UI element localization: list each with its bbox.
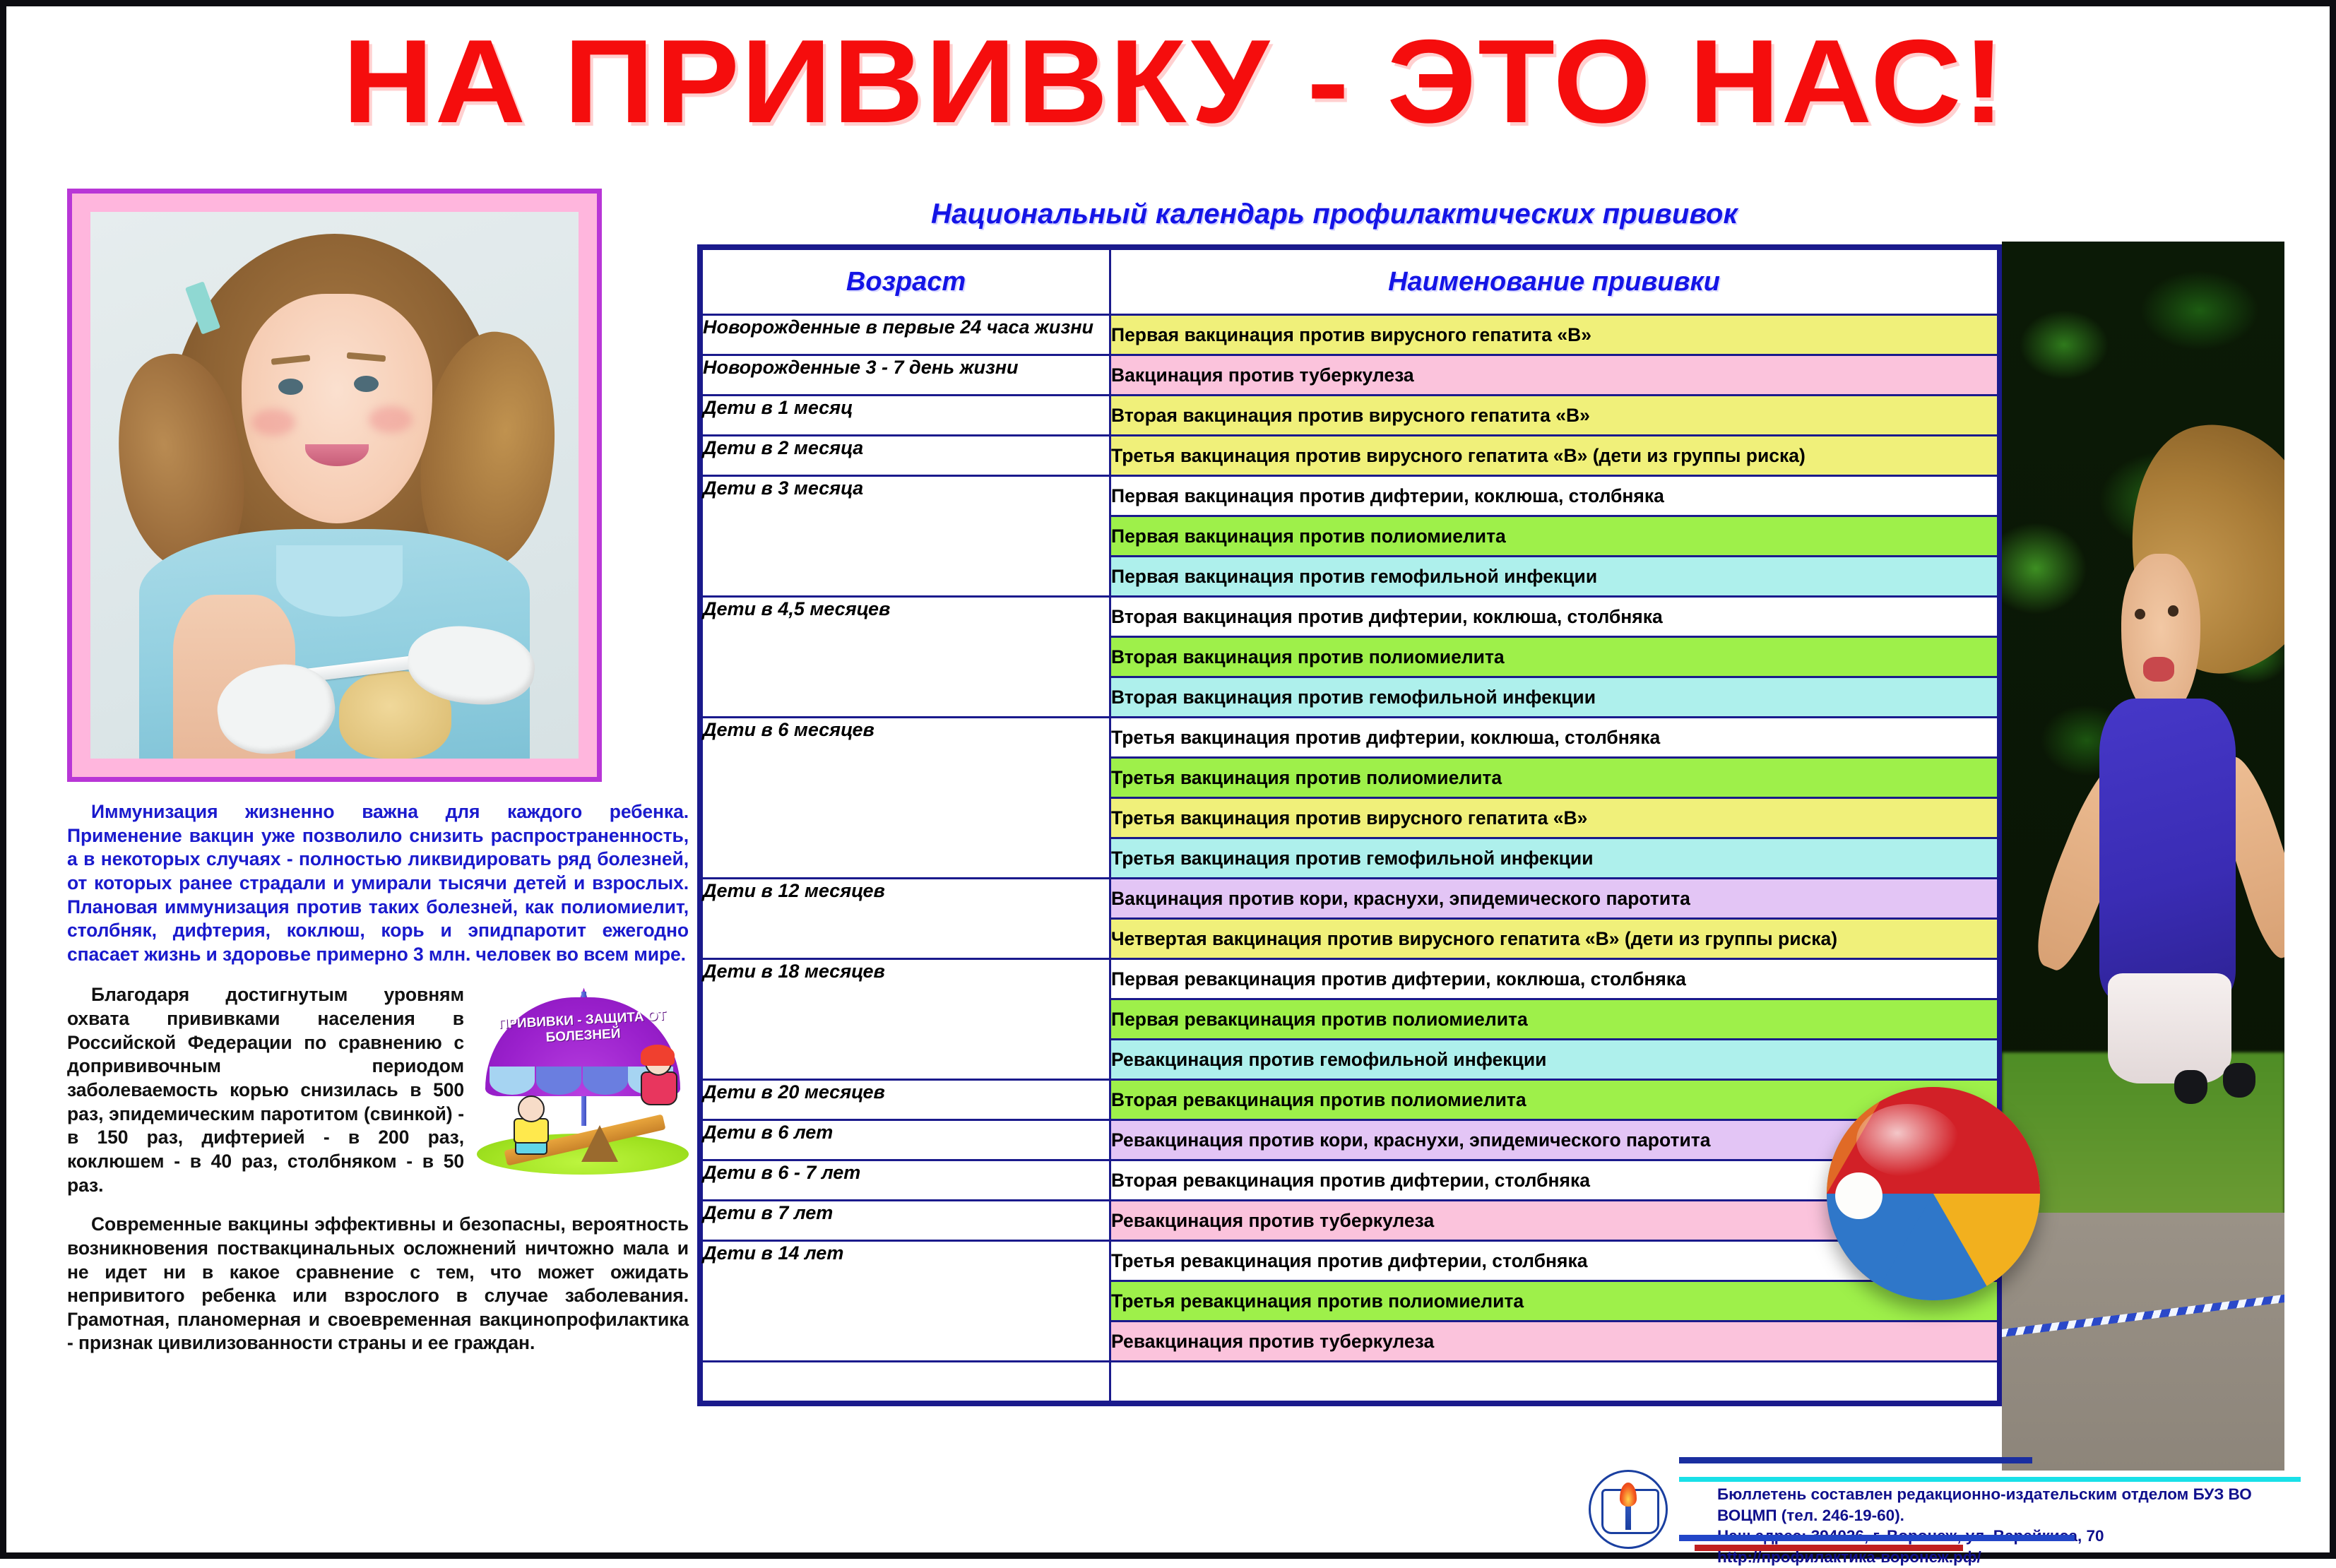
vaccine-cell: Первая ревакцинация против дифтерии, кок… <box>1110 959 1998 999</box>
age-cell: Дети в 1 месяц <box>702 396 1110 436</box>
age-cell <box>702 1362 1110 1402</box>
divider-red <box>1695 1545 1963 1551</box>
vaccine-cell: Первая вакцинация против дифтерии, коклю… <box>1110 476 1998 516</box>
calendar-subtitle: Национальный календарь профилактических … <box>699 198 1970 230</box>
vaccine-cell: Третья вакцинация против полиомиелита <box>1110 758 1998 798</box>
eye-left-icon <box>278 379 303 395</box>
shoe-right-icon <box>2223 1063 2256 1098</box>
age-cell: Новорожденные 3 - 7 день жизни <box>702 355 1110 396</box>
age-cell: Дети в 20 месяцев <box>702 1080 1110 1120</box>
mouth-icon <box>2143 657 2174 682</box>
table-row: Дети в 18 месяцевПервая ревакцинация про… <box>702 959 1998 999</box>
age-cell: Новорожденные в первые 24 часа жизни <box>702 315 1110 355</box>
jumping-girl-photo <box>2002 242 2284 1471</box>
beach-ball-icon <box>1827 1087 2040 1300</box>
age-cell: Дети в 12 месяцев <box>702 879 1110 959</box>
age-cell: Дети в 7 лет <box>702 1201 1110 1241</box>
white-shorts <box>2108 973 2231 1083</box>
eye-right-icon <box>2168 605 2179 617</box>
vaccine-cell: Ревакцинация против гемофильной инфекции <box>1110 1040 1998 1080</box>
table-row: Дети в 1 месяцВторая вакцинация против в… <box>702 396 1998 436</box>
cheek-right-icon <box>369 406 413 434</box>
table-row: Дети в 20 месяцевВторая ревакцинация про… <box>702 1080 1998 1120</box>
table-row: Дети в 14 летТретья ревакцинация против … <box>702 1241 1998 1281</box>
left-column: Иммунизация жизненно важна для каждого р… <box>67 189 689 1355</box>
divider-cyan <box>1679 1477 2301 1482</box>
shoe-left-icon <box>2174 1070 2207 1105</box>
vaccine-cell: Вторая вакцинация против гемофильной инф… <box>1110 677 1998 718</box>
vaccine-cell: Третья вакцинация против вирусного гепат… <box>1110 798 1998 838</box>
vaccination-photo-frame <box>67 189 602 782</box>
vaccine-cell: Вторая вакцинация против дифтерии, коклю… <box>1110 597 1998 637</box>
seesaw-pivot-icon <box>581 1125 618 1162</box>
vaccine-cell: Четвертая вакцинация против вирусного ге… <box>1110 919 1998 959</box>
table-row: Дети в 6 - 7 летВторая ревакцинация прот… <box>702 1160 1998 1201</box>
torch-and-book-logo-icon <box>1589 1470 1668 1549</box>
vaccine-cell: Вакцинация против кори, краснухи, эпидем… <box>1110 879 1998 919</box>
table-row: Дети в 7 летРевакцинация против туберкул… <box>702 1201 1998 1241</box>
divider-blue <box>1679 1535 2075 1541</box>
footer-line-publisher: Бюллетень составлен редакционно-издатель… <box>1717 1484 2304 1526</box>
vaccine-cell: Третья вакцинация против дифтерии, коклю… <box>1110 718 1998 758</box>
page-title: НА ПРИВИВКУ - ЭТО НАС! <box>0 22 2336 141</box>
table-row: Дети в 2 месяцаТретья вакцинация против … <box>702 436 1998 476</box>
table-header-row: Возраст Наименование прививки <box>702 249 1998 315</box>
footer: Бюллетень составлен редакционно-издатель… <box>1589 1467 2302 1553</box>
vaccine-cell: Вторая вакцинация против вирусного гепат… <box>1110 396 1998 436</box>
girl-on-seesaw-icon <box>636 1049 679 1114</box>
footer-contact-text: Бюллетень составлен редакционно-издатель… <box>1717 1484 2304 1568</box>
collar-icon <box>276 545 403 617</box>
table-row: Новорожденные в первые 24 часа жизниПерв… <box>702 315 1998 355</box>
age-cell: Дети в 2 месяца <box>702 436 1110 476</box>
vaccine-cell: Третья вакцинация против вирусного гепат… <box>1110 436 1998 476</box>
vaccine-cell: Первая вакцинация против полиомиелита <box>1110 516 1998 557</box>
age-cell: Дети в 6 месяцев <box>702 718 1110 879</box>
table-row: Дети в 6 месяцевТретья вакцинация против… <box>702 718 1998 758</box>
age-cell: Дети в 14 лет <box>702 1241 1110 1362</box>
age-cell: Дети в 4,5 месяцев <box>702 597 1110 718</box>
intro-paragraph: Иммунизация жизненно важна для каждого р… <box>67 800 689 966</box>
vaccination-photo <box>90 212 579 759</box>
vaccine-cell: Вакцинация против туберкулеза <box>1110 355 1998 396</box>
table-row: Новорожденные 3 - 7 день жизниВакцинация… <box>702 355 1998 396</box>
umbrella-illustration: ПРИВИВКИ - ЗАЩИТА ОТ БОЛЕЗНЕЙ <box>477 987 689 1175</box>
age-cell: Дети в 6 - 7 лет <box>702 1160 1110 1201</box>
purple-tank-top <box>2099 699 2236 1002</box>
vaccine-cell <box>1110 1362 1998 1402</box>
cheek-left-icon <box>251 409 295 436</box>
vaccination-calendar-table: Возраст Наименование прививки Новорожден… <box>697 244 2003 1406</box>
safety-paragraph: Современные вакцины эффективны и безопас… <box>67 1213 689 1355</box>
vaccine-cell: Первая вакцинация против гемофильной инф… <box>1110 557 1998 597</box>
table-row: Дети в 3 месяцаПервая вакцинация против … <box>702 476 1998 516</box>
vaccine-cell: Ревакцинация против туберкулеза <box>1110 1321 1998 1362</box>
table-row: Дети в 6 летРевакцинация против кори, кр… <box>702 1120 1998 1160</box>
divider-navy <box>1679 1457 2032 1463</box>
eye-right-icon <box>354 376 379 392</box>
boy-on-seesaw-icon <box>511 1095 550 1149</box>
table-row <box>702 1362 1998 1402</box>
vaccine-cell: Третья вакцинация против гемофильной инф… <box>1110 838 1998 879</box>
jumping-girl-figure <box>2064 451 2284 1139</box>
column-header-age: Возраст <box>702 249 1110 315</box>
vaccine-cell: Первая ревакцинация против полиомиелита <box>1110 999 1998 1040</box>
vaccine-cell: Первая вакцинация против вирусного гепат… <box>1110 315 1998 355</box>
vaccine-cell: Вторая вакцинация против полиомиелита <box>1110 637 1998 677</box>
age-cell: Дети в 6 лет <box>702 1120 1110 1160</box>
age-cell: Дети в 18 месяцев <box>702 959 1110 1080</box>
table-row: Дети в 12 месяцевВакцинация против кори,… <box>702 879 1998 919</box>
table-row: Дети в 4,5 месяцевВторая вакцинация прот… <box>702 597 1998 637</box>
age-cell: Дети в 3 месяца <box>702 476 1110 597</box>
asphalt-road <box>2002 1213 2284 1471</box>
column-header-vaccine: Наименование прививки <box>1110 249 1998 315</box>
stats-paragraph-block: ПРИВИВКИ - ЗАЩИТА ОТ БОЛЕЗНЕЙ Благодаря … <box>67 983 689 1197</box>
face-icon <box>2121 554 2200 719</box>
poster-root: НА ПРИВИВКУ - ЭТО НАС! <box>0 0 2336 1559</box>
